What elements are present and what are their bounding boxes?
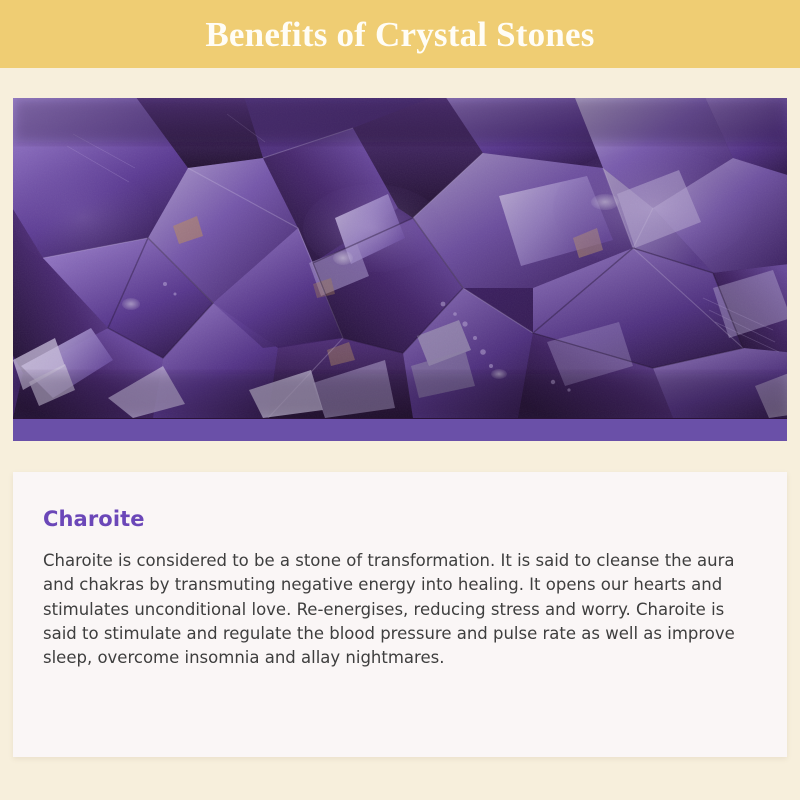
page-title: Benefits of Crystal Stones — [205, 17, 594, 52]
image-accent-bar — [13, 419, 787, 441]
page-root: Benefits of Crystal Stones — [0, 0, 800, 800]
stone-info-card: Charoite Charoite is considered to be a … — [13, 472, 787, 757]
hero-image-container — [13, 98, 787, 441]
stone-description-text: Charoite is considered to be a stone of … — [43, 549, 757, 670]
header-banner: Benefits of Crystal Stones — [0, 0, 800, 68]
amethyst-crystal-image — [13, 98, 787, 418]
card-content: Charoite Charoite is considered to be a … — [13, 472, 787, 670]
stone-name-heading: Charoite — [43, 508, 757, 531]
